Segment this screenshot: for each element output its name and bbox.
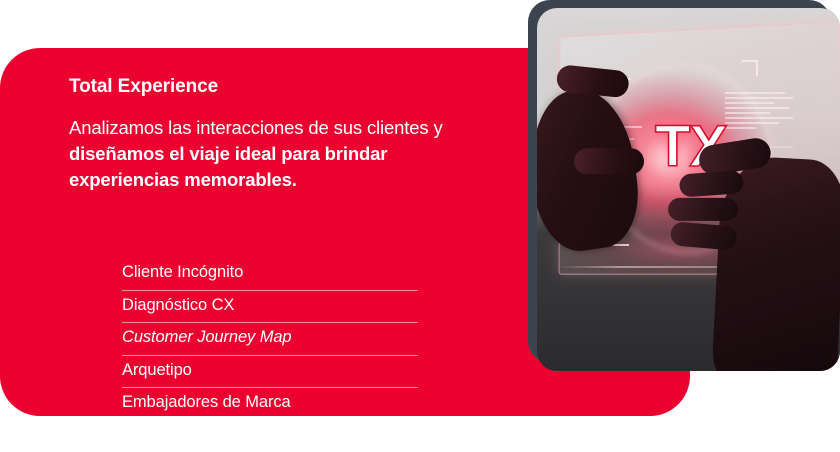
- card-description-lead: Analizamos las interacciones de sus clie…: [69, 117, 443, 138]
- list-item-label: Customer Journey Map: [122, 328, 292, 346]
- list-item-label: Embajadores de Marca: [122, 393, 291, 411]
- list-item[interactable]: Embajadores de Marca: [122, 387, 418, 420]
- right-ring-finger: [668, 198, 738, 221]
- list-item[interactable]: Diseño de Soluciones Digitales: [122, 420, 418, 452]
- service-list: Cliente Incógnito Diagnóstico CX Custome…: [122, 258, 418, 452]
- list-item[interactable]: Diagnóstico CX: [122, 290, 418, 323]
- hud-text-lines: [725, 92, 793, 132]
- list-item-label: Cliente Incógnito: [122, 263, 243, 281]
- list-item-label: Diseño de Soluciones Digitales: [122, 426, 346, 444]
- hero-photo: TX: [537, 8, 840, 371]
- right-middle-finger: [679, 170, 744, 197]
- right-hand: [711, 155, 840, 371]
- card-text-block: Total Experience Analizamos las interacc…: [69, 76, 489, 194]
- card-description-emphasis: diseñamos el viaje ideal para brindar ex…: [69, 143, 387, 190]
- list-item[interactable]: Arquetipo: [122, 355, 418, 388]
- list-item[interactable]: Customer Journey Map: [122, 322, 418, 355]
- list-item-label: Diagnóstico CX: [122, 296, 234, 314]
- list-item-label: Arquetipo: [122, 361, 192, 379]
- page-title: Total Experience: [69, 76, 489, 99]
- left-thumb: [574, 148, 644, 174]
- card-description: Analizamos las interacciones de sus clie…: [69, 115, 489, 194]
- hud-bracket-top-right-icon: [742, 60, 758, 76]
- list-item[interactable]: Cliente Incógnito: [122, 258, 418, 290]
